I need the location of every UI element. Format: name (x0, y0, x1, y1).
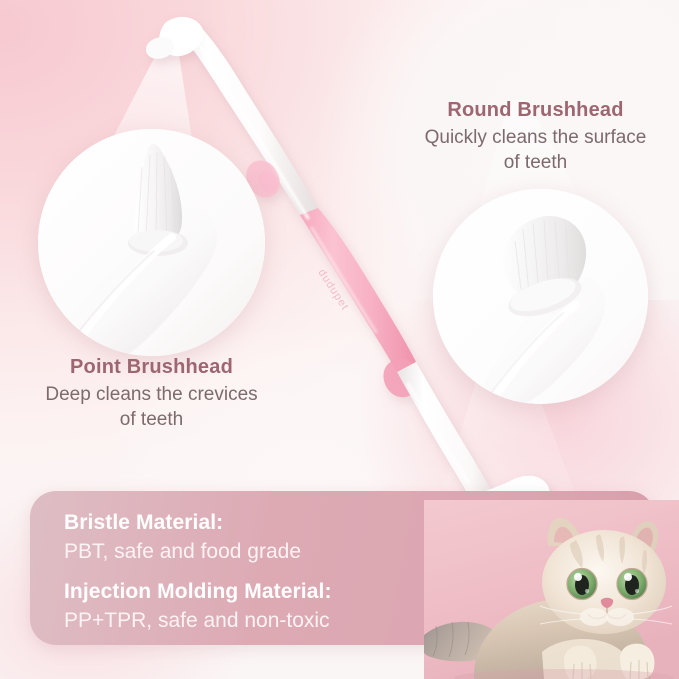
cat-photo (424, 500, 679, 679)
round-brushhead-closeup (433, 189, 648, 404)
callout-point-line2: of teeth (8, 408, 295, 433)
callout-round-brushhead: Round Brushhead Quickly cleans the surfa… (398, 98, 673, 175)
callout-round-line1: Quickly cleans the surface (398, 126, 673, 151)
spec-item-bristle: Bristle Material: PBT, safe and food gra… (64, 509, 464, 565)
spec-item-injection: Injection Molding Material: PP+TPR, safe… (64, 578, 464, 634)
zoom-circle-point-brushhead (38, 129, 265, 356)
infographic-canvas: dudupet (0, 0, 679, 679)
callout-point-line1: Deep cleans the crevices (8, 383, 295, 408)
callout-point-brushhead: Point Brushhead Deep cleans the crevices… (8, 355, 295, 432)
point-brushhead-closeup (38, 129, 265, 356)
callout-round-line2: of teeth (398, 151, 673, 176)
callout-round-title: Round Brushhead (398, 98, 673, 123)
spec-label-bristle: Bristle Material: (64, 509, 464, 537)
spec-label-injection: Injection Molding Material: (64, 578, 464, 606)
spec-value-bristle: PBT, safe and food grade (64, 538, 464, 566)
callout-point-title: Point Brushhead (8, 355, 295, 380)
spec-list: Bristle Material: PBT, safe and food gra… (64, 509, 464, 635)
cat-illustration (424, 500, 679, 679)
zoom-circle-round-brushhead (433, 189, 648, 404)
spec-value-injection: PP+TPR, safe and non-toxic (64, 607, 464, 635)
